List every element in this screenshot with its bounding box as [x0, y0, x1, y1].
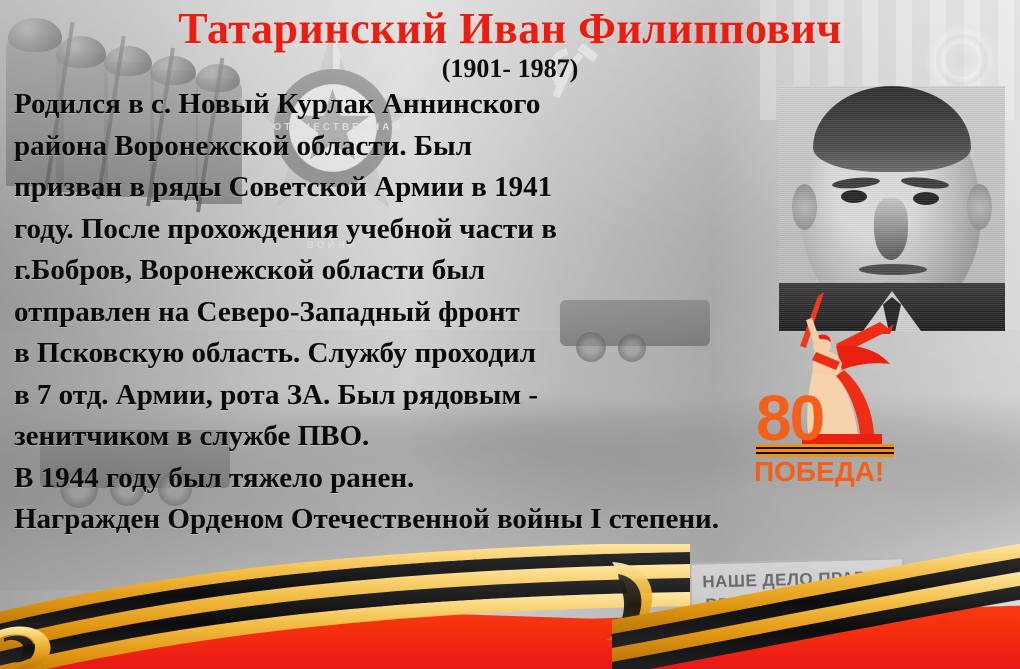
- memorial-poster: ОТЕЧЕСТВЕННАЯ ВОЙНА НАШЕ ДЕЛО ПРАВОЕ ВРА…: [0, 0, 1020, 669]
- biography-line: году. После прохождения учебной части в: [14, 209, 784, 251]
- page-title: Татаринский Иван Филиппович: [0, 6, 1020, 52]
- biography-line: района Воронежской области. Был: [14, 126, 784, 168]
- biography-line: в 7 отд. Армии, рота ЗА. Был рядовым -: [14, 375, 784, 417]
- biography-line: отправлен на Северо-Западный фронт: [14, 292, 784, 334]
- biography-line: призван в ряды Советской Армии в 1941: [14, 167, 784, 209]
- biography-line: в Псковскую область. Службу проходил: [14, 333, 784, 375]
- ribbon-left-sweep: [0, 544, 690, 669]
- ribbon-bands: [0, 544, 1020, 669]
- biography-line: г.Бобров, Воронежской области был: [14, 250, 784, 292]
- biography-line: зенитчиком в службе ПВО.: [14, 416, 784, 458]
- biography-line: Награжден Орденом Отечественной войны I …: [14, 499, 1004, 541]
- st-george-ribbon: [0, 544, 1020, 669]
- biography-text: Родился в с. Новый Курлак Аннинского рай…: [14, 84, 784, 541]
- biography-line: В 1944 году был тяжело ранен.: [14, 458, 784, 500]
- biography-line: Родился в с. Новый Курлак Аннинского: [14, 84, 784, 126]
- life-years: (1901- 1987): [0, 55, 1020, 83]
